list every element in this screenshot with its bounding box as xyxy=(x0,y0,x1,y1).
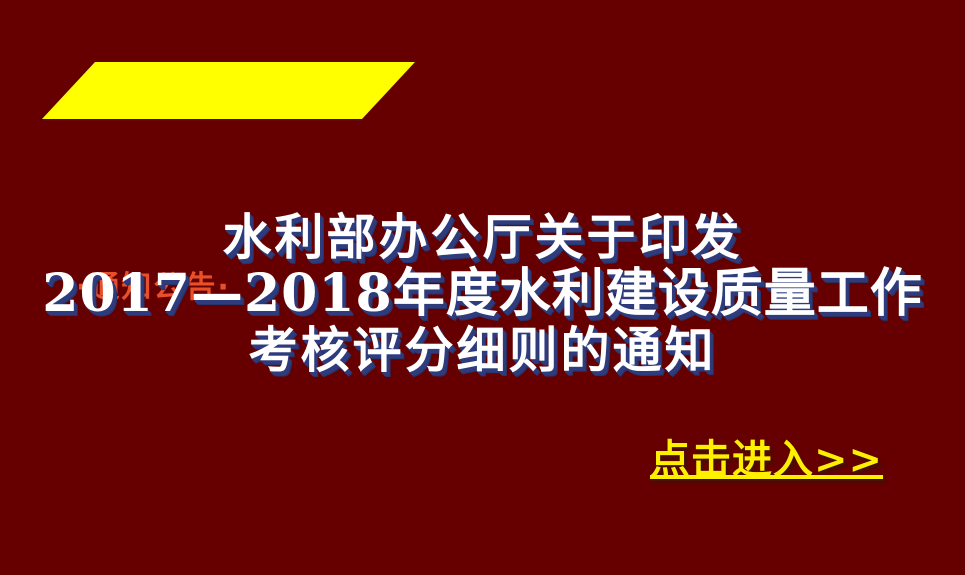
announcement-headline: 水利部办公厅关于印发 2017—2018年度水利建设质量工作 考核评分细则的通知 xyxy=(0,210,965,378)
headline-line-3: 考核评分细则的通知 xyxy=(0,323,965,378)
notice-banner-stage: ·通知公告· 水利部办公厅关于印发 2017—2018年度水利建设质量工作 考核… xyxy=(0,0,965,575)
section-ribbon-shape xyxy=(42,62,415,119)
headline-line-2: 2017—2018年度水利建设质量工作 xyxy=(0,265,965,323)
enter-link[interactable]: 点击进入>> xyxy=(650,437,883,483)
headline-line-1: 水利部办公厅关于印发 xyxy=(0,210,965,265)
